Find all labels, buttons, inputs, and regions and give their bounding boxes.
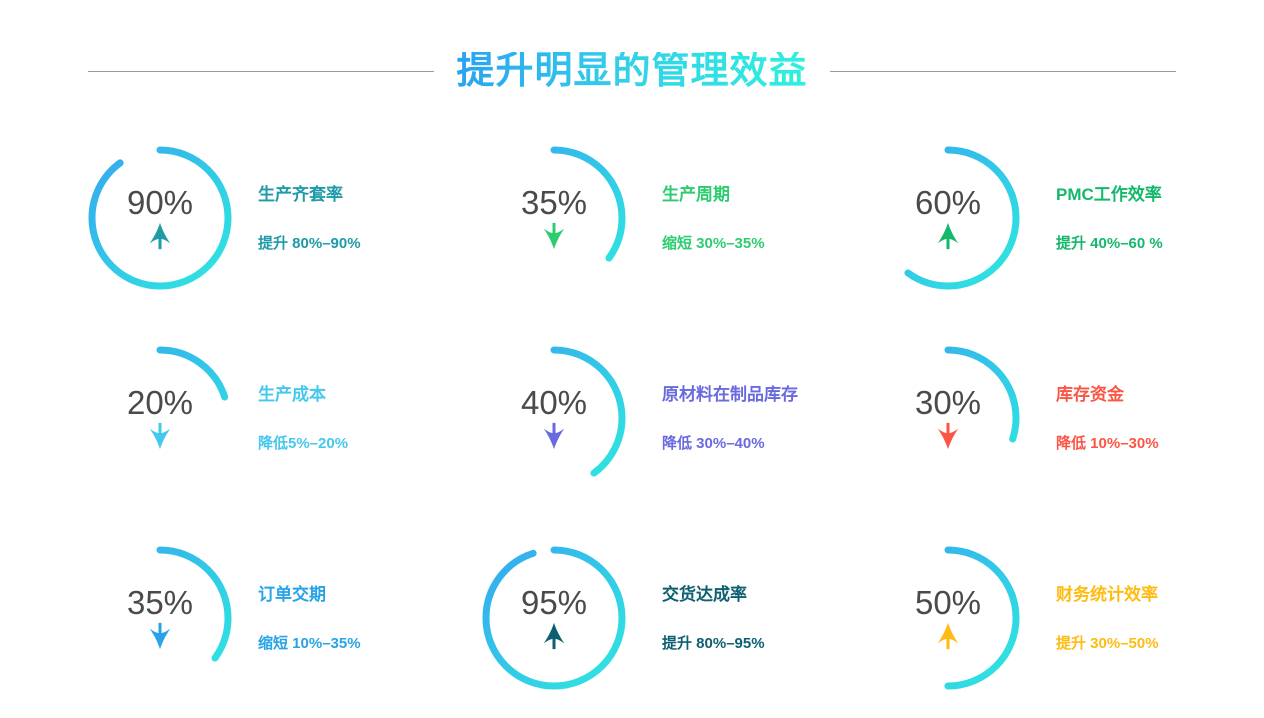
metric-card[interactable]: 95%交货达成率提升 80%–95% — [474, 518, 868, 718]
metric-title: 生产周期 — [662, 186, 765, 203]
metric-card[interactable]: 60%PMC工作效率提升 40%–60 % — [868, 118, 1262, 318]
metric-subtitle: 降低5%–20% — [258, 436, 348, 451]
metric-title: 交货达成率 — [662, 586, 765, 603]
metric-labels: 生产周期缩短 30%–35% — [662, 186, 765, 251]
arrow-down-icon — [935, 421, 961, 451]
gauge-ring: 35% — [474, 138, 634, 298]
metric-title: PMC工作效率 — [1056, 186, 1163, 203]
metric-labels: PMC工作效率提升 40%–60 % — [1056, 186, 1163, 251]
gauge-value: 40% — [521, 386, 587, 419]
metric-labels: 订单交期缩短 10%–35% — [258, 586, 361, 651]
gauge-value: 95% — [521, 586, 587, 619]
metric-labels: 库存资金降低 10%–30% — [1056, 386, 1159, 451]
metric-subtitle: 提升 80%–95% — [662, 636, 765, 651]
page-title: 提升明显的管理效益 — [456, 52, 807, 90]
gauge-center: 90% — [80, 138, 240, 298]
gauge-center: 50% — [868, 538, 1028, 698]
metric-title: 生产齐套率 — [258, 186, 361, 203]
metric-subtitle: 降低 30%–40% — [662, 436, 798, 451]
gauge-center: 60% — [868, 138, 1028, 298]
metric-title: 库存资金 — [1056, 386, 1159, 403]
gauge-ring: 95% — [474, 538, 634, 698]
gauge-ring: 20% — [80, 338, 240, 498]
gauge-value: 50% — [915, 586, 981, 619]
gauge-center: 35% — [80, 538, 240, 698]
arrow-down-icon — [541, 421, 567, 451]
gauge-center: 35% — [474, 138, 634, 298]
metric-card[interactable]: 30%库存资金降低 10%–30% — [868, 318, 1262, 518]
gauge-ring: 35% — [80, 538, 240, 698]
metric-labels: 生产成本降低5%–20% — [258, 386, 348, 451]
gauge-center: 40% — [474, 338, 634, 498]
metric-card[interactable]: 40%原材料在制品库存降低 30%–40% — [474, 318, 868, 518]
metric-title: 财务统计效率 — [1056, 586, 1159, 603]
gauge-ring: 40% — [474, 338, 634, 498]
metric-subtitle: 提升 80%–90% — [258, 236, 361, 251]
metric-title: 原材料在制品库存 — [662, 386, 798, 403]
metric-card[interactable]: 50%财务统计效率提升 30%–50% — [868, 518, 1262, 718]
gauge-value: 20% — [127, 386, 193, 419]
gauge-center: 20% — [80, 338, 240, 498]
arrow-up-icon — [147, 221, 173, 251]
arrow-up-icon — [935, 221, 961, 251]
arrow-up-icon — [935, 621, 961, 651]
gauge-ring: 30% — [868, 338, 1028, 498]
arrow-down-icon — [147, 621, 173, 651]
metric-labels: 生产齐套率提升 80%–90% — [258, 186, 361, 251]
metric-card[interactable]: 20%生产成本降低5%–20% — [80, 318, 474, 518]
metric-labels: 原材料在制品库存降低 30%–40% — [662, 386, 798, 451]
metric-title: 订单交期 — [258, 586, 361, 603]
gauge-ring: 60% — [868, 138, 1028, 298]
gauge-value: 35% — [127, 586, 193, 619]
arrow-down-icon — [541, 221, 567, 251]
metric-title: 生产成本 — [258, 386, 348, 403]
metric-card[interactable]: 35%订单交期缩短 10%–35% — [80, 518, 474, 718]
gauge-value: 90% — [127, 186, 193, 219]
metric-subtitle: 缩短 30%–35% — [662, 236, 765, 251]
metric-grid: 90%生产齐套率提升 80%–90%35%生产周期缩短 30%–35%60%PM… — [0, 118, 1264, 718]
metric-card[interactable]: 90%生产齐套率提升 80%–90% — [80, 118, 474, 318]
arrow-down-icon — [147, 421, 173, 451]
metric-card[interactable]: 35%生产周期缩短 30%–35% — [474, 118, 868, 318]
gauge-center: 95% — [474, 538, 634, 698]
gauge-ring: 50% — [868, 538, 1028, 698]
metric-subtitle: 缩短 10%–35% — [258, 636, 361, 651]
gauge-center: 30% — [868, 338, 1028, 498]
gauge-value: 30% — [915, 386, 981, 419]
metric-subtitle: 降低 10%–30% — [1056, 436, 1159, 451]
gauge-value: 60% — [915, 186, 981, 219]
page-header: 提升明显的管理效益 — [0, 44, 1264, 98]
metric-subtitle: 提升 30%–50% — [1056, 636, 1159, 651]
metric-labels: 财务统计效率提升 30%–50% — [1056, 586, 1159, 651]
gauge-value: 35% — [521, 186, 587, 219]
arrow-up-icon — [541, 621, 567, 651]
title-rule-right — [830, 71, 1176, 72]
metric-labels: 交货达成率提升 80%–95% — [662, 586, 765, 651]
gauge-ring: 90% — [80, 138, 240, 298]
title-rule-left — [88, 71, 434, 72]
metric-subtitle: 提升 40%–60 % — [1056, 236, 1163, 251]
